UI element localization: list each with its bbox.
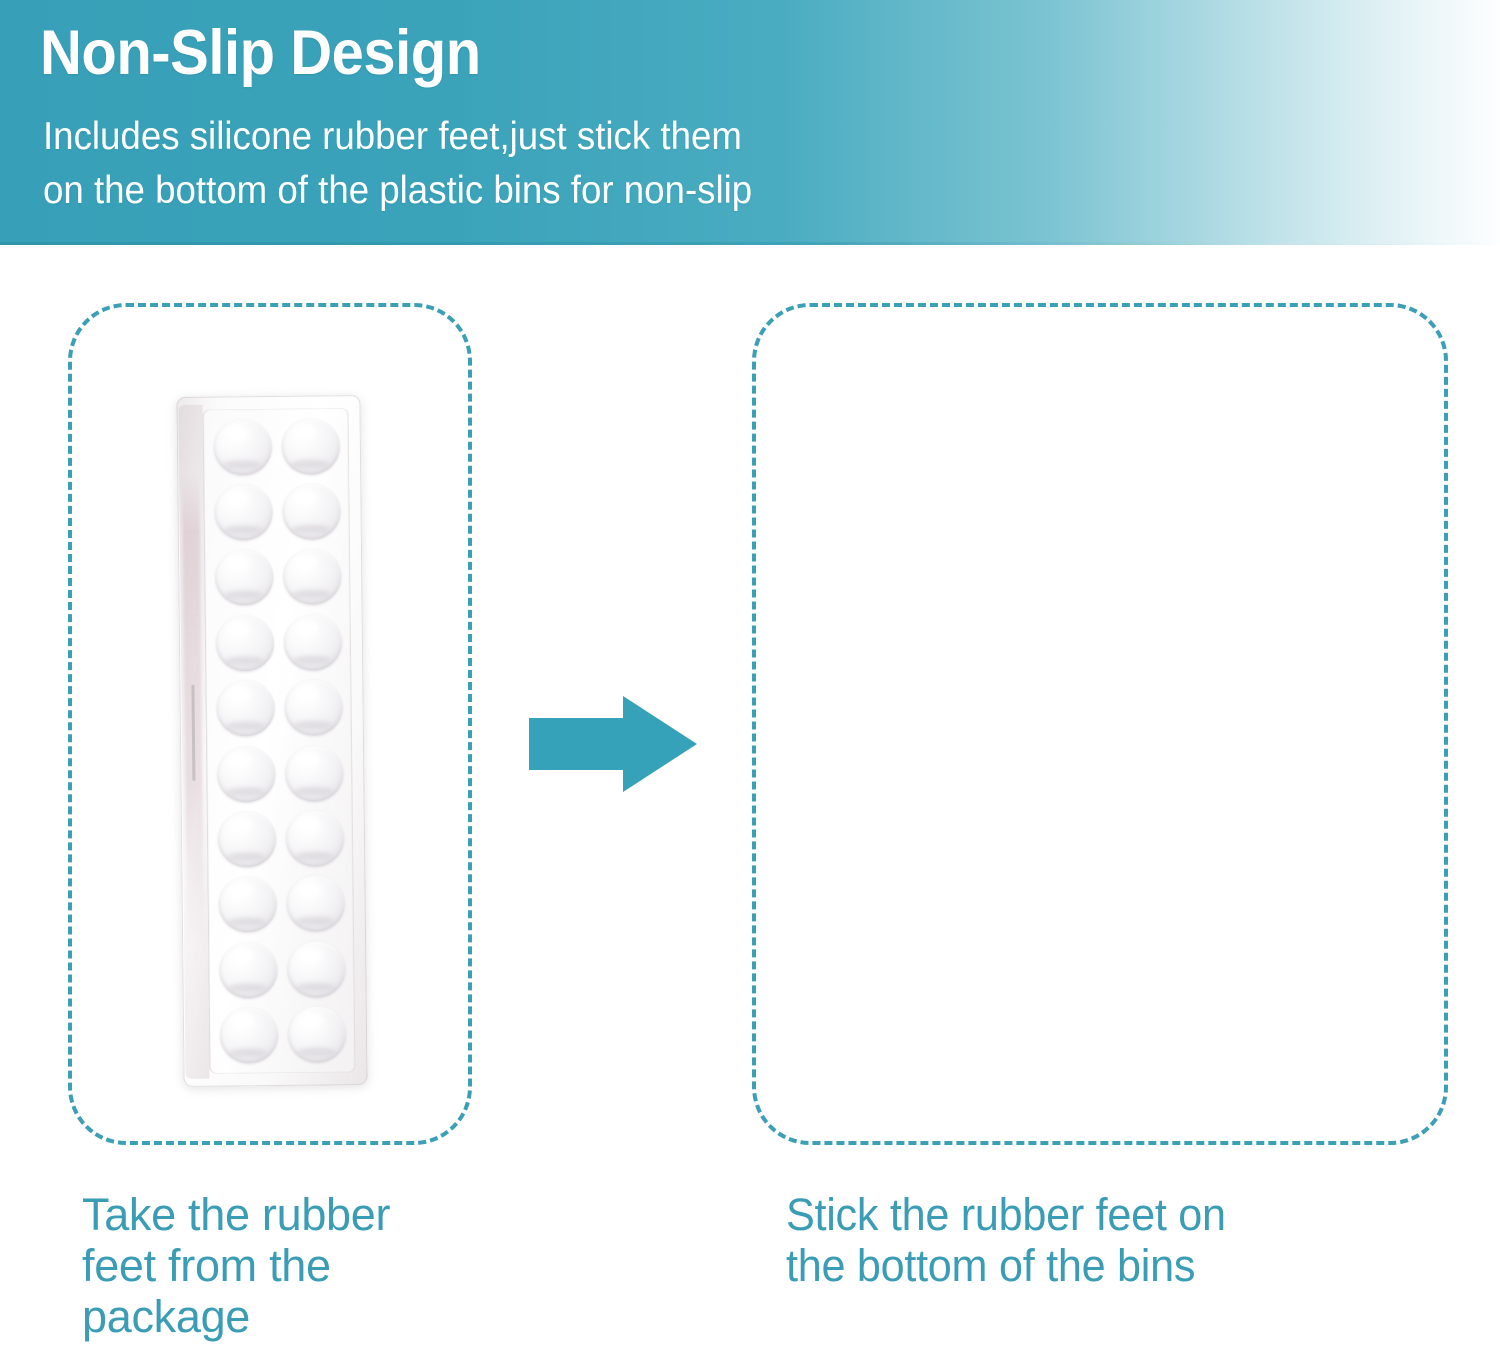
clear-dome-icon [287,941,346,998]
dome-item [213,806,282,872]
dome-item [283,1002,352,1068]
clear-dome-icon [214,419,273,476]
caption-left-line-3: package [82,1291,512,1342]
page-title: Non-Slip Design [40,14,481,92]
dome-item [277,479,346,545]
dome-item [214,937,283,1003]
caption-right-line-1: Stick the rubber feet on [786,1189,1439,1240]
dome-item [281,806,350,872]
right-arrow-icon [529,696,697,792]
dome-item [281,871,350,937]
header-banner: Non-Slip Design Includes silicone rubber… [0,0,1500,245]
clear-dome-icon [216,680,275,737]
subtitle-line-2: on the bottom of the plastic bins for no… [43,164,752,218]
blister-pack-image [176,395,367,1087]
dome-item [280,740,349,806]
clear-dome-icon [216,615,275,672]
clear-dome-icon [217,746,276,803]
dome-item [211,676,280,742]
clear-dome-icon [283,549,342,606]
clear-dome-icon [220,1007,279,1064]
caption-right-line-2: the bottom of the bins [786,1240,1439,1291]
infographic-page: Non-Slip Design Includes silicone rubber… [0,0,1500,1356]
clear-dome-icon [285,745,344,802]
dome-item [209,414,278,480]
clear-dome-icon [282,418,341,475]
dome-item [278,544,347,610]
caption-left-line-1: Take the rubber [82,1189,512,1240]
clear-dome-icon [218,811,277,868]
clear-dome-icon [282,483,341,540]
dome-item [215,1002,284,1068]
clear-dome-icon [284,680,343,737]
dome-item [279,609,348,675]
clear-dome-icon [214,484,273,541]
dome-item [213,872,282,938]
clear-dome-icon [288,1007,347,1064]
clear-dome-icon [215,549,274,606]
dome-item [209,479,278,545]
caption-left: Take the rubber feet from the package [82,1189,512,1342]
clear-dome-icon [286,810,345,867]
step-panel-right-border [752,303,1448,1145]
dome-item [210,545,279,611]
clear-dome-icon [218,876,277,933]
dome-item [282,936,351,1002]
clear-dome-icon [219,942,278,999]
subtitle-line-1: Includes silicone rubber feet,just stick… [43,110,752,164]
dome-item [279,675,348,741]
header-subtitle: Includes silicone rubber feet,just stick… [43,110,752,218]
caption-right: Stick the rubber feet on the bottom of t… [786,1189,1439,1291]
caption-left-line-2: feet from the [82,1240,512,1291]
clear-dome-icon [284,614,343,671]
dome-item [211,610,280,676]
clear-dome-icon [286,876,345,933]
dome-item [277,413,346,479]
clear-dome-grid [209,413,352,1068]
dome-item [212,741,281,807]
